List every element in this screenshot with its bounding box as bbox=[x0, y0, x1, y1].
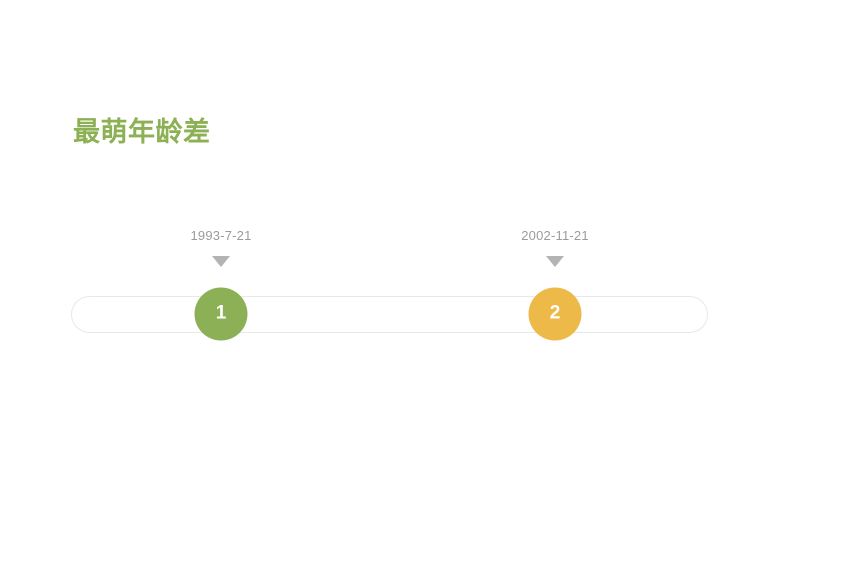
marker-number-label: 2 bbox=[550, 304, 561, 323]
marker-number-label: 1 bbox=[216, 304, 227, 323]
timeline-page: 最萌年龄差 1993-7-21 1 2002-11-21 2 bbox=[0, 0, 848, 571]
marker-bubble[interactable]: 2 bbox=[529, 288, 582, 341]
page-title: 最萌年龄差 bbox=[73, 114, 211, 150]
triangle-down-icon bbox=[212, 256, 230, 267]
marker-date-label: 2002-11-21 bbox=[521, 228, 589, 243]
timeline-widget: 1993-7-21 1 2002-11-21 2 bbox=[71, 296, 708, 333]
timeline-track[interactable] bbox=[71, 296, 708, 333]
marker-bubble[interactable]: 1 bbox=[195, 288, 248, 341]
marker-date-label: 1993-7-21 bbox=[190, 228, 251, 243]
triangle-down-icon bbox=[546, 256, 564, 267]
